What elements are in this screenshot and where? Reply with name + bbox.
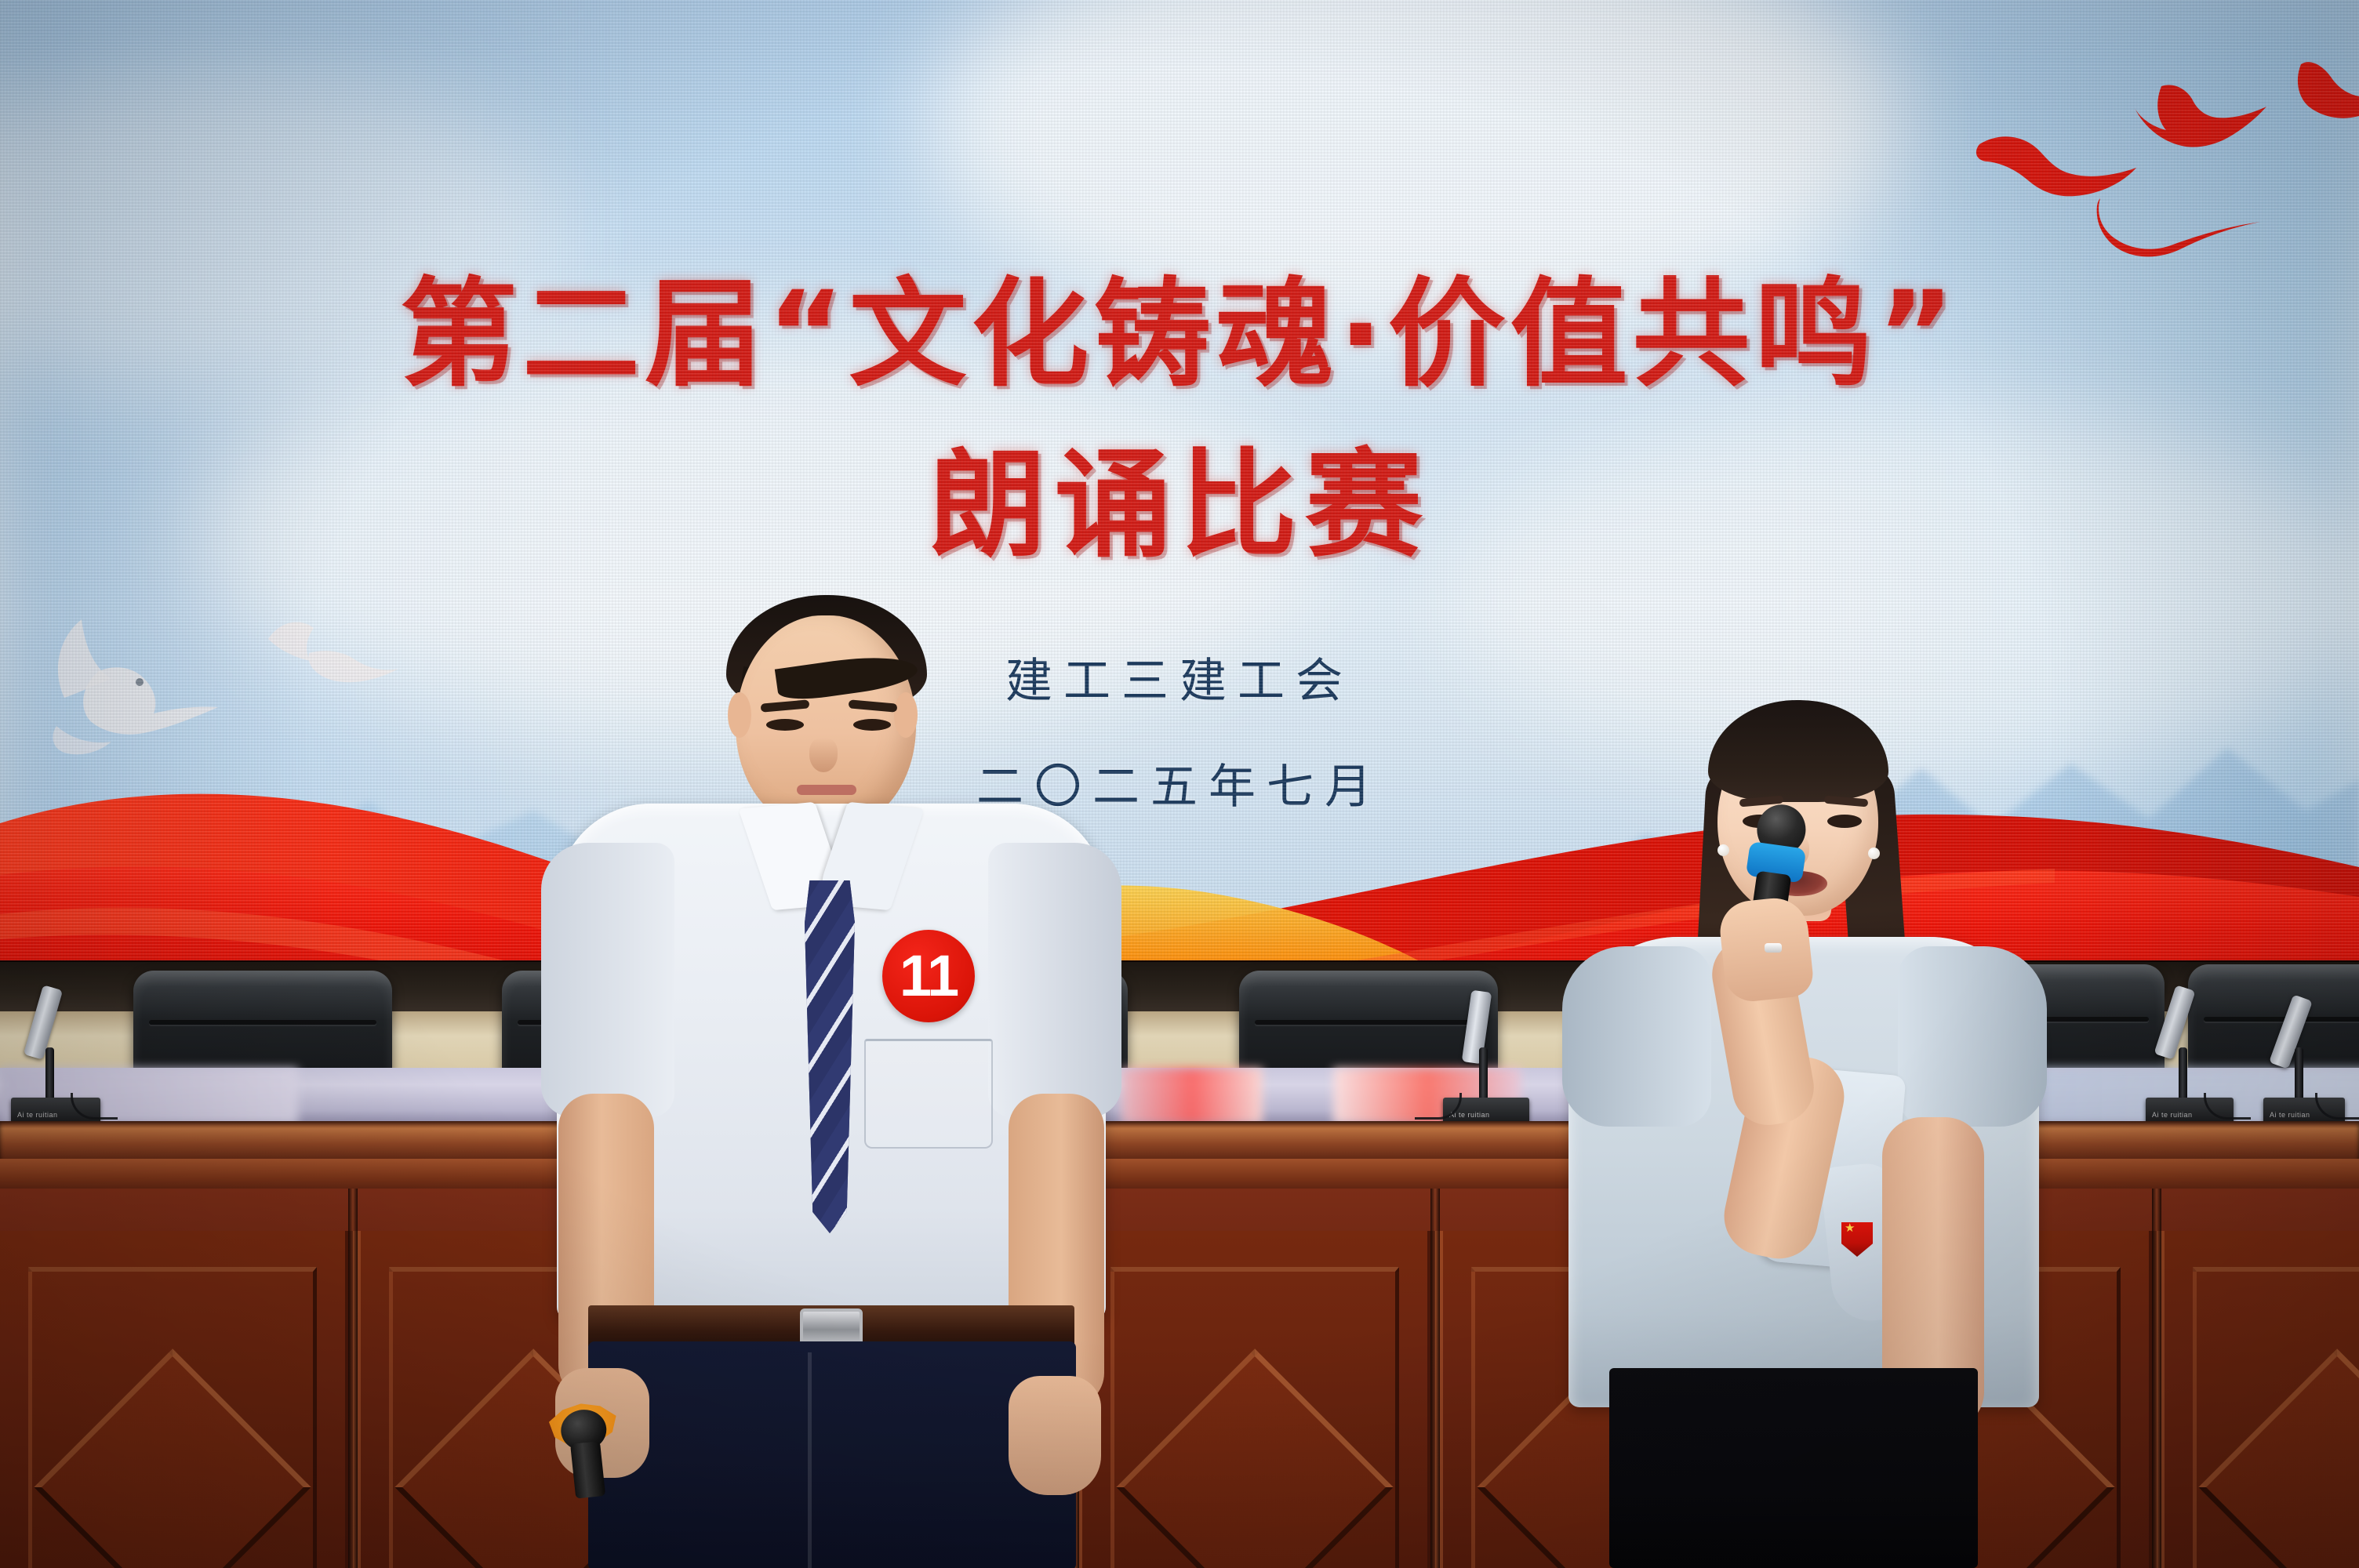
photo-scene: 第二届“文化铸魂·价值共鸣” 朗诵比赛 建工三建工会 二〇二五年七月 Ai te… [0, 0, 2359, 1568]
gooseneck-microphone: Ai te ruitian [11, 986, 105, 1124]
event-title-line1: 第二届“文化铸魂·价值共鸣” [0, 276, 2359, 394]
finger-ring [1765, 943, 1782, 953]
contestant-female [1568, 678, 2039, 1568]
table-seam [348, 1189, 358, 1568]
mic-base-label: Ai te ruitian [2270, 1111, 2310, 1119]
table-panel [2157, 1231, 2359, 1568]
skirt-button [1669, 1479, 1689, 1500]
trousers [588, 1341, 1076, 1568]
red-dove-icon [2274, 55, 2359, 149]
shirt-pocket [864, 1039, 993, 1149]
contestant-male: 11 [541, 584, 1121, 1568]
gooseneck-microphone: Ai te ruitian [1443, 991, 1537, 1124]
table-panel [0, 1231, 353, 1568]
skirt-button [1669, 1393, 1689, 1414]
table-seam [2152, 1189, 2161, 1568]
red-dove-icon [2117, 78, 2274, 188]
event-title-line2: 朗诵比赛 [0, 447, 2359, 564]
contestant-number-badge: 11 [882, 930, 975, 1022]
skirt-button [1669, 1437, 1689, 1457]
gooseneck-microphone: Ai te ruitian [2263, 996, 2350, 1124]
mic-base-label: Ai te ruitian [2152, 1111, 2193, 1119]
red-dove-icon [2086, 184, 2266, 270]
handheld-microphone-orange [547, 1400, 624, 1501]
gooseneck-microphone: Ai te ruitian [2146, 986, 2240, 1124]
skirt [1609, 1368, 1978, 1568]
table-panel [1074, 1231, 1435, 1568]
mic-base-label: Ai te ruitian [17, 1111, 58, 1119]
necktie [805, 880, 855, 1233]
table-reflection [1121, 1068, 1263, 1124]
table-seam [1430, 1189, 1440, 1568]
